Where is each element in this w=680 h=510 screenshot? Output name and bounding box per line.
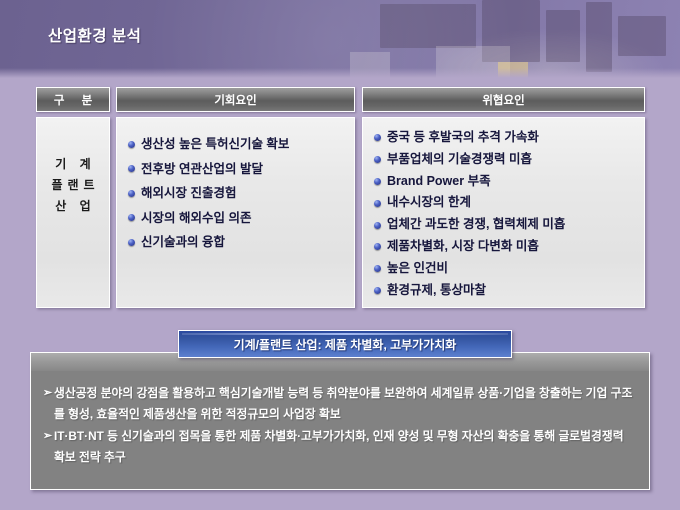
- list-item: 내수시장의 한계: [374, 192, 565, 214]
- list-item-label: IT·BT·NT 등 신기술과의 접목을 통한 제품 차별화·고부가가치화, 인…: [54, 429, 624, 464]
- header-fade: [0, 68, 680, 78]
- list-item: 생산성 높은 특허신기술 확보: [128, 132, 289, 157]
- opportunities-list: 생산성 높은 특허신기술 확보 전후방 연관산업의 발달 해외시장 진출경험 시…: [128, 132, 289, 255]
- bullet-sphere-icon: [374, 156, 381, 163]
- opportunities-cell: 생산성 높은 특허신기술 확보 전후방 연관산업의 발달 해외시장 진출경험 시…: [116, 117, 355, 308]
- list-item-label: 생산성 높은 특허신기술 확보: [141, 137, 289, 151]
- chevron-right-icon: ➢: [43, 426, 52, 447]
- list-item-label: 높은 인건비: [387, 261, 448, 275]
- list-item-label: 업체간 과도한 경쟁, 협력체제 미흡: [387, 217, 565, 231]
- chevron-right-icon: ➢: [43, 383, 52, 404]
- list-item: ➢ 생산공정 분야의 강점을 활용하고 핵심기술개발 능력 등 취약분야를 보완…: [43, 383, 637, 425]
- list-item: 환경규제, 통상마찰: [374, 280, 565, 302]
- category-line-1: 기 계: [37, 154, 109, 175]
- bullet-sphere-icon: [374, 134, 381, 141]
- threats-list: 중국 등 후발국의 추격 가속화 부품업체의 기술경쟁력 미흡 Brand Po…: [374, 127, 565, 301]
- list-item: 시장의 해외수입 의존: [128, 206, 289, 231]
- bullet-sphere-icon: [374, 265, 381, 272]
- list-item-label: 환경규제, 통상마찰: [387, 283, 486, 297]
- bullet-sphere-icon: [374, 178, 381, 185]
- bullet-sphere-icon: [374, 243, 381, 250]
- list-item-label: 내수시장의 한계: [387, 195, 471, 209]
- column-header-opportunities: 기회요인: [116, 87, 355, 112]
- list-item-label: 중국 등 후발국의 추격 가속화: [387, 130, 539, 144]
- column-header-category: 구 분: [36, 87, 110, 112]
- list-item: 중국 등 후발국의 추격 가속화: [374, 127, 565, 149]
- conclusion-list: ➢ 생산공정 분야의 강점을 활용하고 핵심기술개발 능력 등 취약분야를 보완…: [43, 383, 637, 469]
- slide-header: 산업환경 분석: [0, 0, 680, 78]
- conclusion-banner-label: 기계/플랜트 산업: 제품 차별화, 고부가가치화: [234, 336, 457, 353]
- list-item: 전후방 연관산업의 발달: [128, 157, 289, 182]
- bullet-sphere-icon: [128, 165, 135, 172]
- threats-cell: 중국 등 후발국의 추격 가속화 부품업체의 기술경쟁력 미흡 Brand Po…: [362, 117, 645, 308]
- list-item: Brand Power 부족: [374, 171, 565, 193]
- bullet-sphere-icon: [128, 190, 135, 197]
- category-cell: 기 계 플랜트 산 업: [36, 117, 110, 308]
- list-item: 제품차별화, 시장 다변화 미흡: [374, 236, 565, 258]
- list-item-label: 시장의 해외수입 의존: [141, 211, 251, 225]
- list-item: ➢ IT·BT·NT 등 신기술과의 접목을 통한 제품 차별화·고부가가치화,…: [43, 426, 637, 468]
- list-item: 업체간 과도한 경쟁, 협력체제 미흡: [374, 214, 565, 236]
- list-item-label: 생산공정 분야의 강점을 활용하고 핵심기술개발 능력 등 취약분야를 보완하여…: [54, 386, 632, 421]
- category-line-2: 플랜트: [37, 175, 109, 196]
- conclusion-panel: ➢ 생산공정 분야의 강점을 활용하고 핵심기술개발 능력 등 취약분야를 보완…: [30, 352, 650, 490]
- bullet-sphere-icon: [128, 214, 135, 221]
- list-item-label: 신기술과의 융합: [141, 235, 225, 249]
- bullet-sphere-icon: [374, 287, 381, 294]
- list-item: 높은 인건비: [374, 258, 565, 280]
- bullet-sphere-icon: [374, 200, 381, 207]
- header-glow: [120, 0, 540, 78]
- bullet-sphere-icon: [128, 141, 135, 148]
- list-item: 해외시장 진출경험: [128, 181, 289, 206]
- category-line-3: 산 업: [37, 196, 109, 217]
- list-item-label: 해외시장 진출경험: [141, 186, 236, 200]
- column-header-threats: 위협요인: [362, 87, 645, 112]
- bullet-sphere-icon: [374, 222, 381, 229]
- category-label: 기 계 플랜트 산 업: [37, 154, 109, 217]
- list-item-label: 제품차별화, 시장 다변화 미흡: [387, 239, 539, 253]
- list-item-label: 부품업체의 기술경쟁력 미흡: [387, 152, 532, 166]
- list-item: 부품업체의 기술경쟁력 미흡: [374, 149, 565, 171]
- bullet-sphere-icon: [128, 239, 135, 246]
- conclusion-banner: 기계/플랜트 산업: 제품 차별화, 고부가가치화: [178, 330, 512, 358]
- page-title: 산업환경 분석: [48, 24, 141, 46]
- list-item: 신기술과의 융합: [128, 230, 289, 255]
- list-item-label: Brand Power 부족: [387, 174, 491, 188]
- list-item-label: 전후방 연관산업의 발달: [141, 162, 263, 176]
